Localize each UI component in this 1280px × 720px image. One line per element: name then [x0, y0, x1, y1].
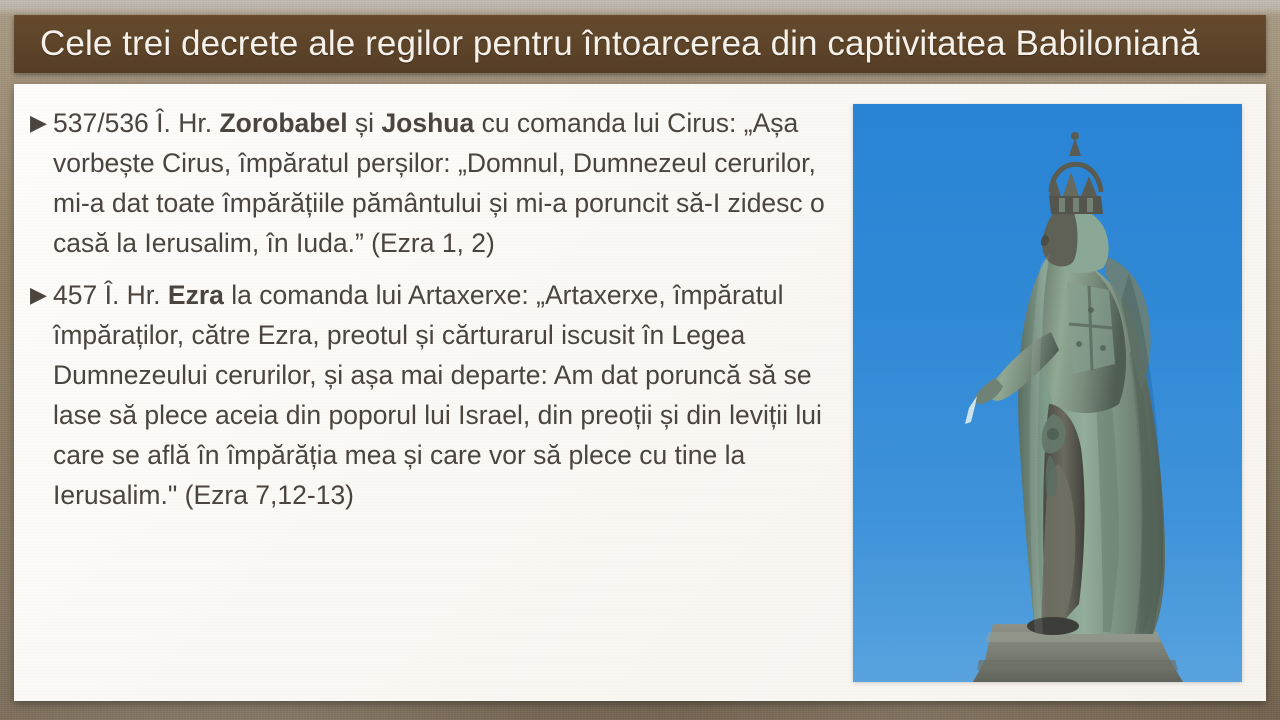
crown-point	[1081, 176, 1097, 196]
statue-photo	[853, 104, 1242, 682]
bullet-2-seg-1: Ezra	[168, 280, 224, 310]
slide-title-bar: Cele trei decrete ale regilor pentru înt…	[14, 15, 1266, 73]
bullet-list: ▶ 537/536 Î. Hr. Zorobabel și Joshua cu …	[30, 103, 835, 527]
bullet-1-seg-2: și	[348, 108, 382, 138]
bullet-triangle-icon: ▶	[30, 278, 47, 312]
bullet-text-1: 537/536 Î. Hr. Zorobabel și Joshua cu co…	[53, 108, 825, 258]
statue-illustration	[853, 104, 1242, 682]
bullet-1-seg-3: Joshua	[381, 108, 474, 138]
slide: Cele trei decrete ale regilor pentru înt…	[0, 0, 1280, 720]
list-item: ▶ 457 Î. Hr. Ezra la comanda lui Artaxer…	[30, 275, 835, 515]
bullet-1-seg-0: 537/536 Î. Hr.	[53, 108, 219, 138]
bullet-text-2: 457 Î. Hr. Ezra la comanda lui Artaxerxe…	[53, 280, 822, 510]
content-panel: ▶ 537/536 Î. Hr. Zorobabel și Joshua cu …	[14, 84, 1266, 701]
scroll	[965, 396, 977, 424]
bullet-1-seg-1: Zorobabel	[219, 108, 347, 138]
list-item: ▶ 537/536 Î. Hr. Zorobabel și Joshua cu …	[30, 103, 835, 263]
bullet-2-seg-0: 457 Î. Hr.	[53, 280, 168, 310]
crown-finial	[1069, 138, 1081, 156]
bullet-2-seg-2: la comanda lui Artaxerxe: „Artaxerxe, îm…	[53, 280, 822, 510]
crown-point	[1063, 172, 1079, 196]
statue-figure	[853, 104, 1242, 682]
page-title: Cele trei decrete ale regilor pentru înt…	[14, 24, 1200, 64]
bullet-triangle-icon: ▶	[30, 106, 47, 140]
